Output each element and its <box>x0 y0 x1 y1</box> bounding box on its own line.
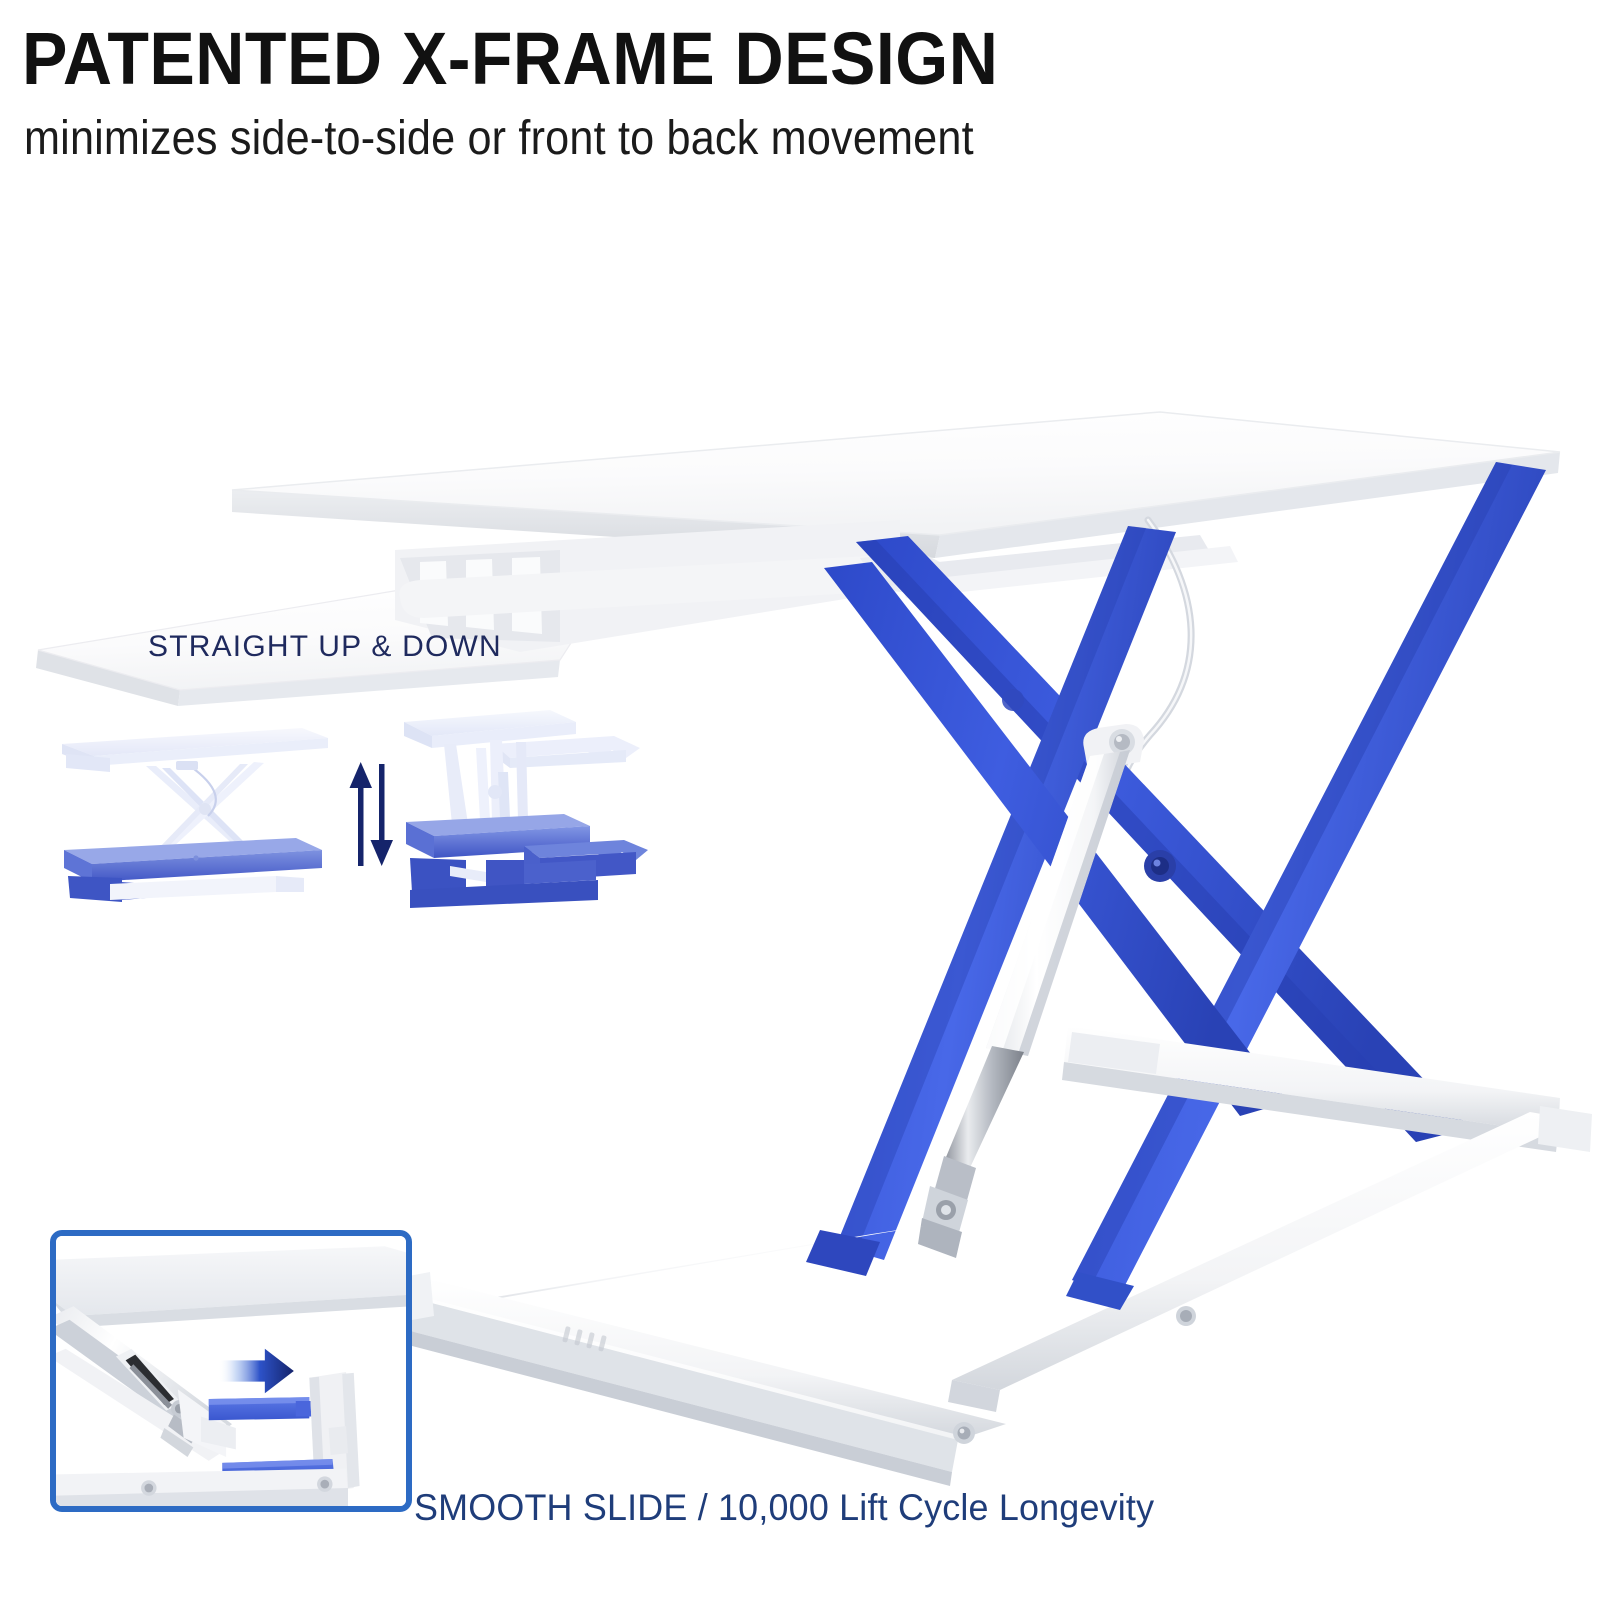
poster-canvas: PATENTED X-FRAME DESIGN minimizes side-t… <box>0 0 1600 1600</box>
slide-mechanism-inset <box>50 1230 412 1512</box>
riser-with-keyboard-tray-side-view-icon <box>390 700 660 910</box>
x-frame-riser-side-view-icon <box>50 706 340 906</box>
up-down-arrows <box>348 758 394 870</box>
diagram-caption: STRAIGHT UP & DOWN <box>148 630 502 664</box>
arrow-up-icon <box>350 762 373 866</box>
page-subtitle: minimizes side-to-side or front to back … <box>24 112 1428 166</box>
inset-caption: SMOOTH SLIDE / 10,000 Lift Cycle Longevi… <box>414 1486 1190 1530</box>
straight-up-down-diagram: STRAIGHT UP & DOWN <box>40 610 660 910</box>
page-title: PATENTED X-FRAME DESIGN <box>22 20 1457 98</box>
slide-mechanism-closeup-svg <box>56 1236 406 1506</box>
